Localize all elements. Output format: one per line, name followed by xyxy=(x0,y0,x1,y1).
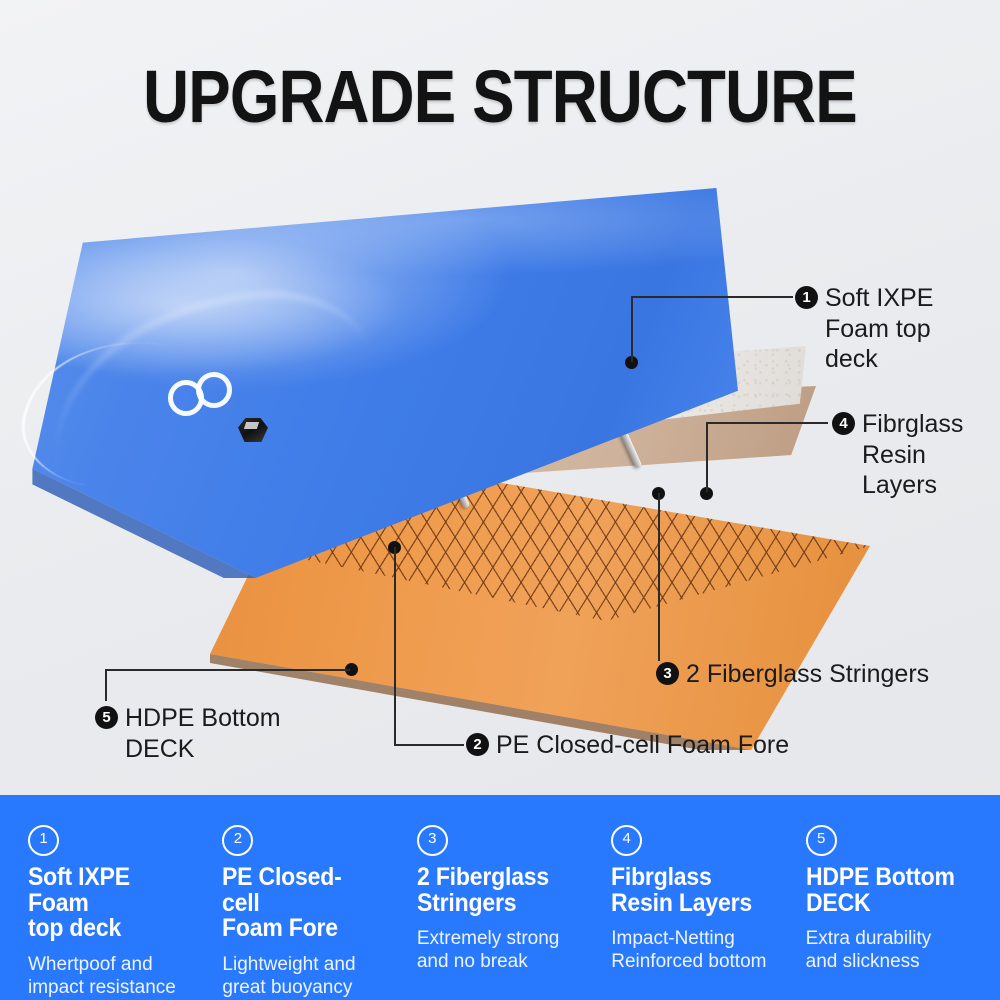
leader-line-1-vertical xyxy=(631,296,633,362)
callout-3: 3 2 Fiberglass Stringers xyxy=(656,659,986,690)
callout-4: 4 Fibrglass Resin Layers xyxy=(832,409,1000,501)
leader-line-4-horizontal xyxy=(706,422,828,424)
leash-plug-highlight xyxy=(244,422,259,429)
callout-5-badge: 5 xyxy=(95,706,118,729)
feature-1-description: Whertpoof and impact resistance xyxy=(28,953,198,999)
feature-3-description: Extremely strong and no break xyxy=(417,927,587,973)
feature-2-badge: 2 xyxy=(222,825,253,856)
feature-3-heading: 2 Fiberglass Stringers xyxy=(417,865,574,916)
callout-5-label: HDPE Bottom DECK xyxy=(125,703,281,764)
feature-2-heading: PE Closed-cell Foam Fore xyxy=(222,865,379,942)
callout-3-label: 2 Fiberglass Stringers xyxy=(686,659,929,690)
callout-1-badge: 1 xyxy=(795,286,818,309)
infographic-page: UPGRADE STRUCTURE xyxy=(0,0,1000,1000)
logo-ring-right xyxy=(196,372,232,408)
feature-1-heading: Soft IXPE Foam top deck xyxy=(28,865,185,942)
double-ring-logo xyxy=(168,372,260,422)
feature-4-description: Impact-Netting Reinforced bottom xyxy=(611,927,781,973)
feature-4-heading: Fibrglass Resin Layers xyxy=(611,865,768,916)
feature-4-badge: 4 xyxy=(611,825,642,856)
feature-item-4: 4 Fibrglass Resin Layers Impact-Netting … xyxy=(597,795,791,1000)
page-title: UPGRADE STRUCTURE xyxy=(70,54,930,139)
callout-2-label: PE Closed-cell Foam Fore xyxy=(496,730,789,761)
feature-item-2: 2 PE Closed-cell Foam Fore Lightweight a… xyxy=(208,795,402,1000)
leader-line-5-horizontal xyxy=(105,669,350,671)
feature-5-heading: HDPE Bottom DECK xyxy=(806,865,963,916)
callout-5: 5 HDPE Bottom DECK xyxy=(95,703,325,764)
feature-item-3: 3 2 Fiberglass Stringers Extremely stron… xyxy=(403,795,597,1000)
callout-4-label: Fibrglass Resin Layers xyxy=(862,409,963,501)
feature-5-description: Extra durability and slickness xyxy=(806,927,976,973)
feature-item-1: 1 Soft IXPE Foam top deck Whertpoof and … xyxy=(14,795,208,1000)
feature-1-badge: 1 xyxy=(28,825,59,856)
feature-3-badge: 3 xyxy=(417,825,448,856)
callout-1-label: Soft IXPE Foam top deck xyxy=(825,283,933,375)
callout-4-badge: 4 xyxy=(832,412,855,435)
feature-5-badge: 5 xyxy=(806,825,837,856)
feature-bar: 1 Soft IXPE Foam top deck Whertpoof and … xyxy=(0,795,1000,1000)
callout-3-badge: 3 xyxy=(656,662,679,685)
leader-line-2-horizontal xyxy=(394,744,464,746)
callout-2: 2 PE Closed-cell Foam Fore xyxy=(466,730,816,761)
callout-2-badge: 2 xyxy=(466,733,489,756)
feature-2-description: Lightweight and great buoyancy xyxy=(222,953,392,999)
callout-1: 1 Soft IXPE Foam top deck xyxy=(795,283,990,375)
leader-line-4-vertical xyxy=(706,422,708,492)
leader-line-3-vertical xyxy=(658,493,660,661)
leader-line-1-horizontal xyxy=(631,296,793,298)
leader-line-2-vertical xyxy=(394,547,396,744)
leader-line-5-vertical xyxy=(105,669,107,701)
feature-item-5: 5 HDPE Bottom DECK Extra durability and … xyxy=(792,795,986,1000)
